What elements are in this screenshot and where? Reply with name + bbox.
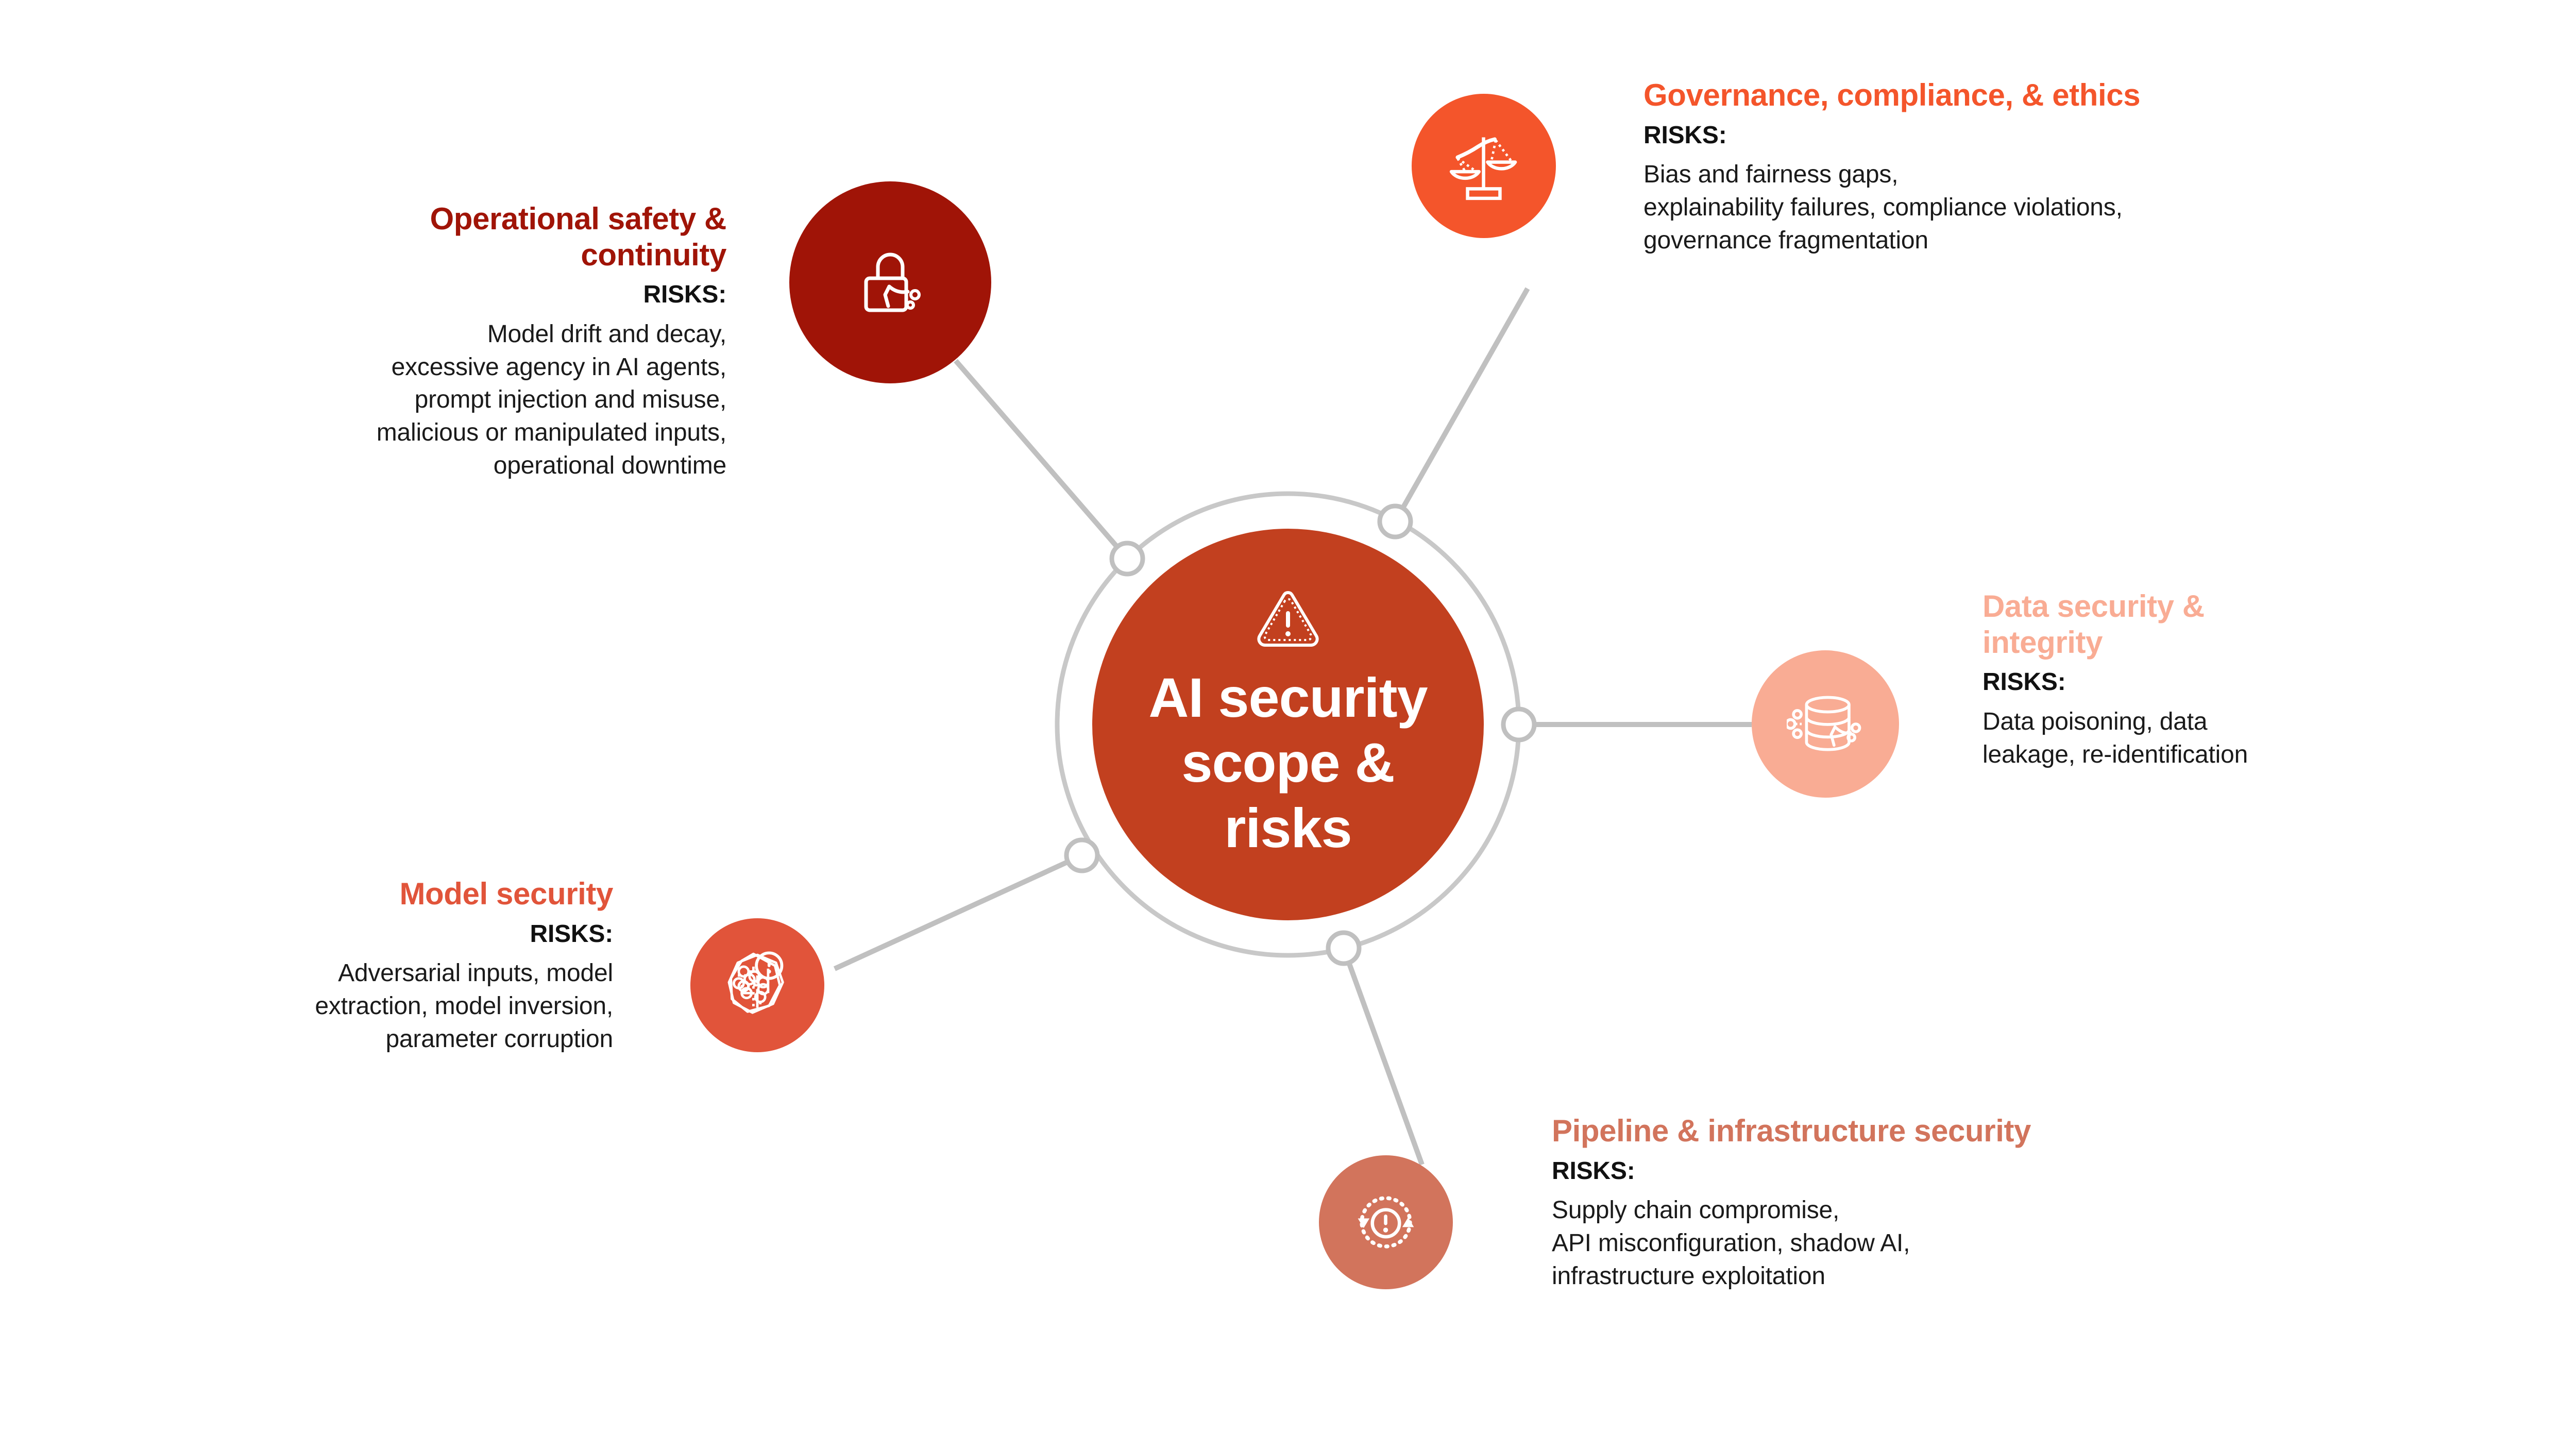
bubble-data-security[interactable]: [1752, 650, 1899, 798]
bubble-model-security[interactable]: [690, 918, 824, 1052]
diagram-canvas: AI security scope & risks: [0, 0, 2576, 1449]
junction-operational-safety: [1112, 543, 1143, 574]
risks-body-governance: Bias and fairness gaps, explainability f…: [1643, 158, 2530, 257]
risks-body-model-security: Adversarial inputs, model extraction, mo…: [98, 957, 613, 1055]
junction-pipeline: [1328, 933, 1359, 964]
bubble-operational-safety[interactable]: [789, 181, 991, 383]
block-title-operational-safety: Operational safety & continuity: [93, 201, 726, 273]
junction-data-security: [1503, 709, 1534, 740]
risks-label-model-security: RISKS:: [98, 919, 613, 949]
risks-body-operational-safety: Model drift and decay, excessive agency …: [93, 318, 726, 482]
cracked-database-icon: [1787, 685, 1864, 763]
block-pipeline: Pipeline & infrastructure security RISKS…: [1552, 1113, 2428, 1293]
wire-governance: [1395, 289, 1528, 521]
circuit-brain-alert-icon: [718, 946, 796, 1024]
refresh-alert-icon: [1347, 1184, 1425, 1261]
risks-body-pipeline: Supply chain compromise, API misconfigur…: [1552, 1194, 2428, 1292]
block-title-pipeline: Pipeline & infrastructure security: [1552, 1113, 2428, 1149]
risks-body-data-security: Data poisoning, data leakage, re-identif…: [1982, 705, 2529, 771]
broken-padlock-icon: [849, 241, 931, 324]
risks-label-pipeline: RISKS:: [1552, 1156, 2428, 1186]
block-title-model-security: Model security: [98, 876, 613, 912]
risks-label-data-security: RISKS:: [1982, 667, 2529, 697]
junction-model-security: [1066, 840, 1097, 871]
block-operational-safety: Operational safety & continuity RISKS: M…: [93, 201, 726, 482]
block-governance: Governance, compliance, & ethics RISKS: …: [1643, 77, 2530, 257]
hub-circle[interactable]: AI security scope & risks: [1092, 529, 1484, 920]
wire-pipeline: [1344, 948, 1422, 1165]
block-title-governance: Governance, compliance, & ethics: [1643, 77, 2530, 113]
junction-governance: [1380, 506, 1411, 537]
hub-title: AI security scope & risks: [1148, 665, 1427, 861]
bubble-governance[interactable]: [1412, 94, 1556, 238]
block-title-data-security: Data security & integrity: [1982, 588, 2529, 660]
bubble-pipeline[interactable]: [1319, 1155, 1453, 1289]
risks-label-operational-safety: RISKS:: [93, 280, 726, 310]
risks-label-governance: RISKS:: [1643, 121, 2530, 150]
warning-triangle-icon: [1254, 588, 1322, 652]
unbalanced-scales-icon: [1446, 128, 1522, 204]
wire-model-security: [835, 855, 1082, 969]
wire-operational-safety: [956, 361, 1127, 559]
block-model-security: Model security RISKS: Adversarial inputs…: [98, 876, 613, 1056]
block-data-security: Data security & integrity RISKS: Data po…: [1982, 588, 2529, 771]
